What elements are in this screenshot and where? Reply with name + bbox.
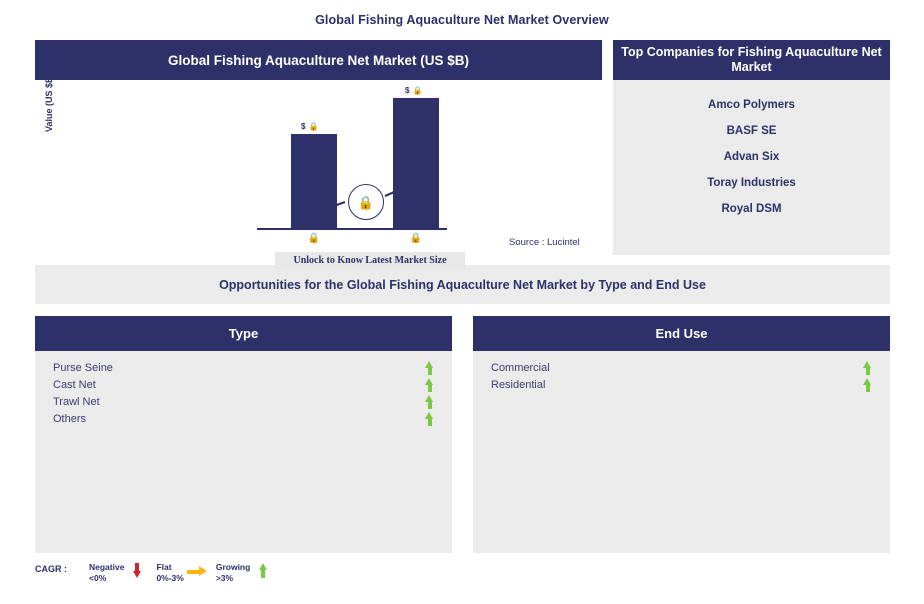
row-label: Trawl Net — [53, 396, 100, 408]
bar-1-value-label: $ 🔒 — [301, 122, 319, 131]
list-item: Advan Six — [613, 144, 890, 170]
cagr-legend-item-flat: Flat 0%-3% — [156, 562, 209, 584]
arrow-up-green-icon — [250, 563, 276, 578]
arrow-up-green-icon — [425, 361, 434, 375]
arrow-down-red-icon — [124, 563, 150, 578]
type-table-header: Type — [35, 316, 452, 351]
list-item: Royal DSM — [613, 196, 890, 222]
type-table: Type Purse Seine Cast Net Trawl Net Othe… — [35, 316, 452, 553]
cagr-legend: CAGR : Negative <0% Flat 0%-3% Growing >… — [35, 562, 282, 584]
end-use-table: End Use Commercial Residential — [473, 316, 890, 553]
cagr-legend-text-growing: Growing >3% — [216, 562, 250, 584]
table-row: Residential — [473, 376, 890, 393]
row-label: Residential — [491, 379, 545, 391]
table-row: Purse Seine — [35, 359, 452, 376]
row-label: Others — [53, 413, 86, 425]
bar-chart: Value (US $B) $ 🔒 $ 🔒 🔒 — [35, 80, 602, 255]
x-axis-line — [257, 228, 447, 230]
bar-2 — [393, 98, 439, 228]
y-axis-label: Value (US $B) — [44, 73, 54, 132]
list-item: BASF SE — [613, 118, 890, 144]
cagr-range-flat: 0%-3% — [156, 573, 183, 583]
arrow-right-yellow-icon — [184, 563, 210, 577]
top-companies-header: Top Companies for Fishing Aquaculture Ne… — [613, 40, 890, 80]
arrow-up-green-icon — [425, 412, 434, 426]
lock-glyph: 🔒 — [358, 196, 374, 209]
x-tick-lock-icon-1: 🔒 — [291, 233, 337, 244]
bar-2-value-label: $ 🔒 — [405, 86, 423, 95]
cagr-legend-item-negative: Negative <0% — [89, 562, 150, 584]
table-row: Commercial — [473, 359, 890, 376]
table-row: Cast Net — [35, 376, 452, 393]
top-companies-panel: Top Companies for Fishing Aquaculture Ne… — [613, 40, 890, 255]
lock-badge-icon: 🔒 — [348, 184, 384, 220]
lock-icon-bar-2: 🔒 — [413, 86, 423, 95]
cagr-range-growing: >3% — [216, 573, 233, 583]
row-label: Purse Seine — [53, 362, 113, 374]
top-companies-list: Amco Polymers BASF SE Advan Six Toray In… — [613, 80, 890, 255]
table-row: Trawl Net — [35, 393, 452, 410]
list-item: Amco Polymers — [613, 92, 890, 118]
type-table-body: Purse Seine Cast Net Trawl Net Others — [35, 351, 452, 553]
market-chart-panel: Global Fishing Aquaculture Net Market (U… — [35, 40, 602, 255]
market-overview-infographic: Global Fishing Aquaculture Net Market Ov… — [0, 0, 924, 604]
cagr-label-negative: Negative — [89, 562, 124, 572]
end-use-table-header: End Use — [473, 316, 890, 351]
row-label: Commercial — [491, 362, 550, 374]
cagr-legend-title: CAGR : — [35, 564, 67, 574]
bar-1 — [291, 134, 337, 228]
market-chart-body: Value (US $B) $ 🔒 $ 🔒 🔒 — [35, 80, 602, 255]
cagr-label-flat: Flat — [156, 562, 171, 572]
unlock-banner[interactable]: Unlock to Know Latest Market Size — [275, 252, 465, 269]
end-use-table-body: Commercial Residential — [473, 351, 890, 553]
cagr-legend-text-negative: Negative <0% — [89, 562, 124, 584]
lock-icon-bar-1: 🔒 — [309, 122, 319, 131]
x-tick-lock-icon-2: 🔒 — [393, 233, 439, 244]
cagr-legend-text-flat: Flat 0%-3% — [156, 562, 183, 584]
market-chart-header: Global Fishing Aquaculture Net Market (U… — [35, 40, 602, 80]
page-title: Global Fishing Aquaculture Net Market Ov… — [0, 13, 924, 27]
arrow-up-green-icon — [863, 361, 872, 375]
source-label: Source : Lucintel — [509, 237, 580, 248]
arrow-up-green-icon — [425, 378, 434, 392]
arrow-up-green-icon — [863, 378, 872, 392]
table-row: Others — [35, 410, 452, 427]
cagr-range-negative: <0% — [89, 573, 106, 583]
row-label: Cast Net — [53, 379, 96, 391]
list-item: Toray Industries — [613, 170, 890, 196]
cagr-legend-item-growing: Growing >3% — [216, 562, 276, 584]
cagr-label-growing: Growing — [216, 562, 250, 572]
opportunities-band-title: Opportunities for the Global Fishing Aqu… — [35, 265, 890, 304]
arrow-up-green-icon — [425, 395, 434, 409]
